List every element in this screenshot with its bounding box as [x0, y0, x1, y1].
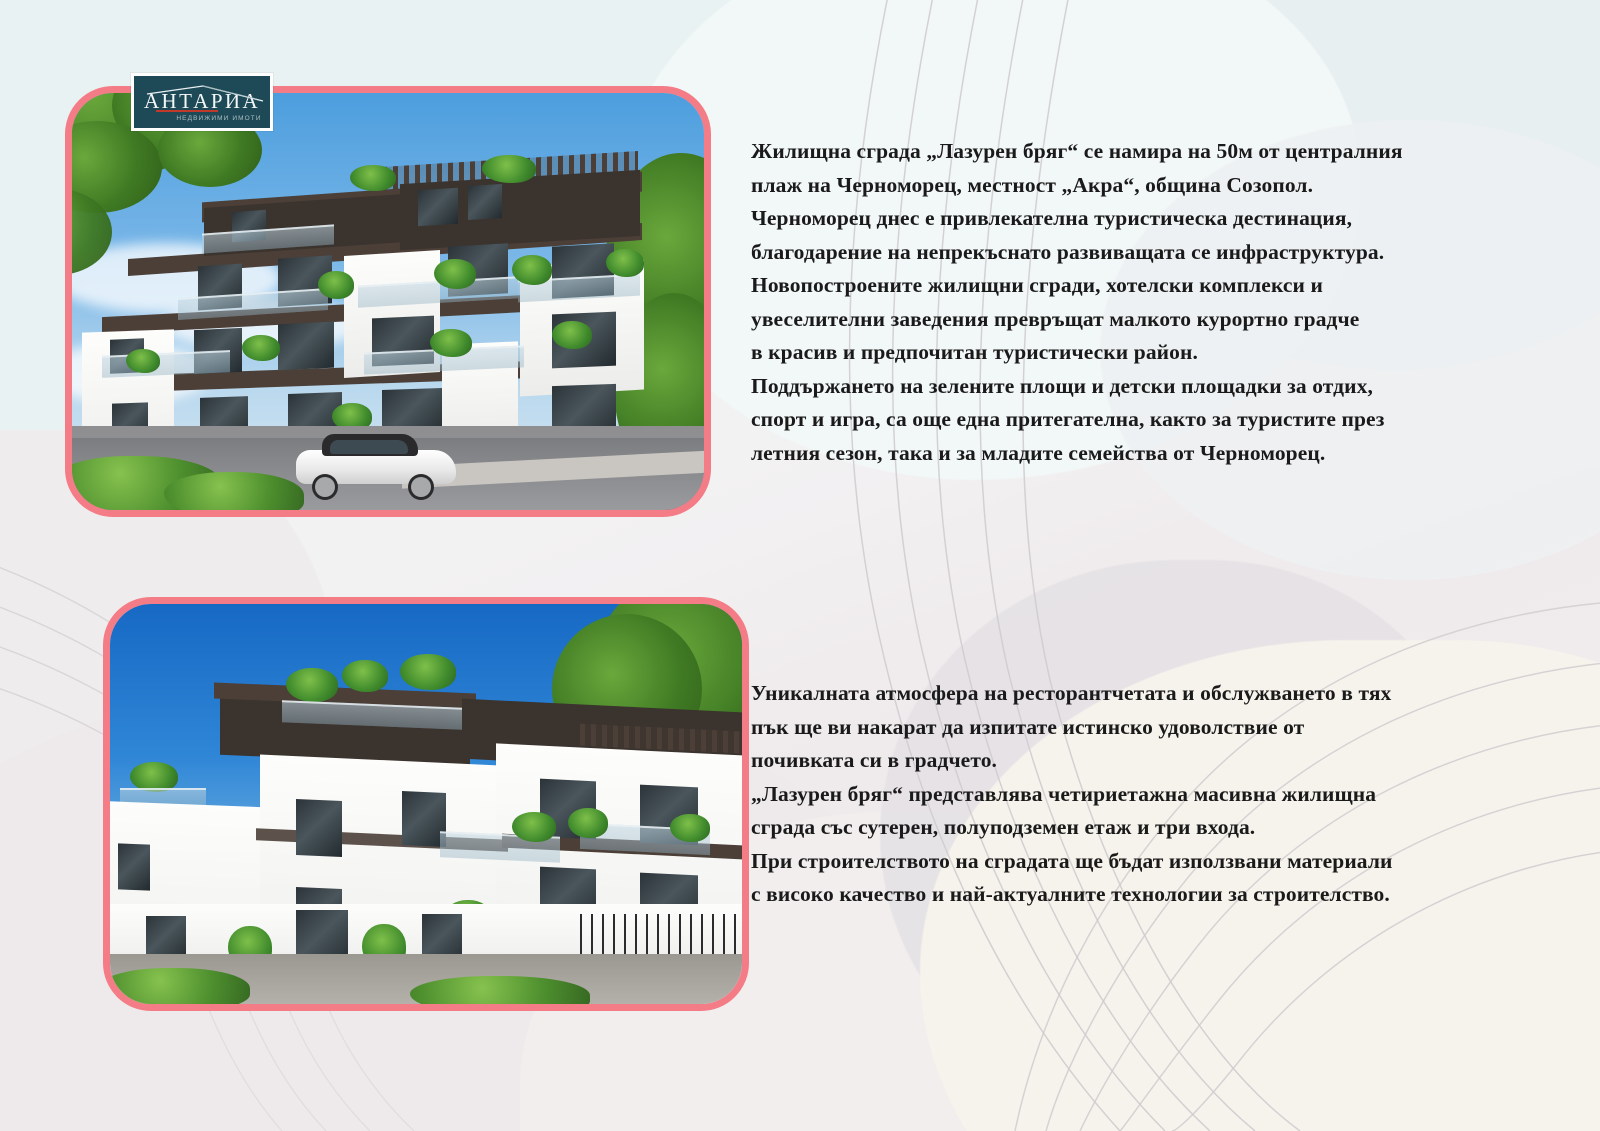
balcony-plant — [568, 808, 608, 838]
balcony-plant — [670, 814, 710, 842]
balcony-plant — [512, 812, 556, 842]
description-paragraph-1: Жилищна сграда „Лазурен бряг“ се намира … — [751, 135, 1541, 470]
paragraph-line: плаж на Черноморец, местност „Акра“, общ… — [751, 169, 1541, 203]
window — [296, 799, 342, 857]
paragraph-line: благодарение на непрекъснато развиващата… — [751, 236, 1541, 270]
logo-accent-rule — [156, 110, 218, 112]
brochure-page: АНТАРИА НЕДВИЖИМИ ИМОТИ Жилищна сграда „… — [0, 0, 1600, 1131]
description-paragraph-2: Уникалната атмосфера на ресторантчетата … — [751, 677, 1541, 912]
logo-roofline-icon — [145, 85, 265, 103]
paragraph-line: Поддържането на зелените площи и детски … — [751, 370, 1541, 404]
render-scene-1 — [72, 93, 704, 510]
paragraph-line: пък ще ви накарат да изпитате истинско у… — [751, 711, 1541, 745]
paragraph-line: с високо качество и най-актуалните техно… — [751, 878, 1541, 912]
paragraph-line: летния сезон, така и за младите семейств… — [751, 437, 1541, 471]
balcony-plant — [606, 249, 644, 277]
company-logo[interactable]: АНТАРИА НЕДВИЖИМИ ИМОТИ — [131, 73, 273, 131]
car-window — [330, 440, 408, 454]
roof-plant — [350, 165, 396, 191]
roof-palm — [342, 660, 388, 692]
render-scene-2 — [110, 604, 742, 1004]
building-render-street-view — [65, 86, 711, 517]
hedge — [164, 472, 304, 510]
window — [278, 322, 334, 371]
balcony-plant — [126, 349, 160, 373]
balcony-plant — [430, 329, 472, 357]
paragraph-line: Уникалната атмосфера на ресторантчетата … — [751, 677, 1541, 711]
paragraph-line: При строителството на сградата ще бъдат … — [751, 845, 1541, 879]
paragraph-line: увеселителни заведения превръщат малкото… — [751, 303, 1541, 337]
paragraph-line: Жилищна сграда „Лазурен бряг“ се намира … — [751, 135, 1541, 169]
roof-plant — [482, 155, 536, 183]
car-wheel — [408, 474, 434, 500]
parked-car-white — [296, 432, 456, 496]
paragraph-line: в красив и предпочитан туристически райо… — [751, 336, 1541, 370]
balcony-plant — [242, 335, 280, 361]
window — [468, 184, 502, 220]
paragraph-line: спорт и игра, са още една притегателна, … — [751, 403, 1541, 437]
hedge — [110, 968, 250, 1004]
roof-palm — [400, 654, 456, 690]
paragraph-line: почивката си в градчето. — [751, 744, 1541, 778]
window — [418, 188, 458, 226]
car-wheel — [312, 474, 338, 500]
balcony-plant — [512, 255, 552, 285]
building-render-corner-view — [103, 597, 749, 1011]
logo-subtitle: НЕДВИЖИМИ ИМОТИ — [176, 115, 261, 122]
balcony-plant — [552, 321, 592, 349]
roof-palm — [286, 668, 338, 702]
paragraph-line: Новопостроените жилищни сгради, хотелски… — [751, 269, 1541, 303]
window — [118, 843, 150, 890]
paragraph-line: „Лазурен бряг“ представлява четириетажна… — [751, 778, 1541, 812]
paragraph-line: Черноморец днес е привлекателна туристич… — [751, 202, 1541, 236]
balcony-plant — [434, 259, 476, 289]
paragraph-line: сграда със сутерен, полуподземен етаж и … — [751, 811, 1541, 845]
balcony-plant — [318, 271, 354, 299]
